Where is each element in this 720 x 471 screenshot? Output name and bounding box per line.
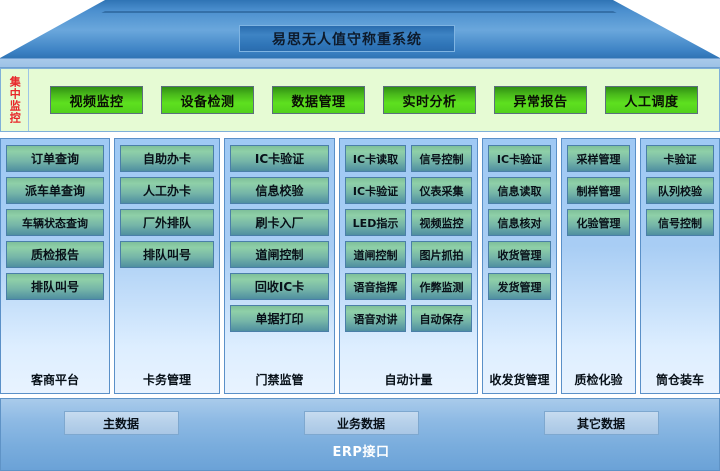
module-item[interactable]: 语音对讲 [345,305,406,332]
module-item[interactable]: 自助办卡 [120,145,214,172]
module-item[interactable]: 道闸控制 [230,241,329,268]
module-column-customer-platform: 订单查询 派车单查询 车辆状态查询 质检报告 排队叫号 客商平台 [0,138,110,394]
module-item[interactable]: 排队叫号 [6,273,104,300]
module-column-quality-inspection: 采样管理 制样管理 化验管理 质检化验 [561,138,636,394]
module-column-card-management: 自助办卡 人工办卡 厂外排队 排队叫号 卡务管理 [114,138,220,394]
module-item[interactable]: 采样管理 [567,145,630,172]
module-column-silo-loading: 卡验证 队列校验 信号控制 筒仓装车 [640,138,720,394]
module-columns: 订单查询 派车单查询 车辆状态查询 质检报告 排队叫号 客商平台 自助办卡 人工… [0,138,720,394]
erp-button-label: 主数据 [103,415,139,432]
module-item[interactable]: 制样管理 [567,177,630,204]
module-item-list: 卡验证 队列校验 信号控制 [646,145,714,365]
module-item[interactable]: 信息核对 [488,209,551,236]
central-monitoring-side-label: 集中监控 [1,69,29,131]
module-column-footer: 质检化验 [567,365,630,393]
module-item[interactable]: 订单查询 [6,145,104,172]
system-title-plate: 易思无人值守称重系统 [239,25,455,52]
module-column-footer: 自动计量 [345,365,472,393]
module-column-footer: 收发货管理 [488,365,551,393]
system-architecture-diagram: 易思无人值守称重系统 集中监控 视频监控 设备检测 数据管理 实时分析 异常报告 [0,0,720,471]
spacer [567,241,630,365]
module-item-list: 自助办卡 人工办卡 厂外排队 排队叫号 [120,145,214,365]
module-item[interactable]: 队列校验 [646,177,714,204]
monitor-button-device-detection[interactable]: 设备检测 [161,86,254,114]
module-item[interactable]: 质检报告 [6,241,104,268]
module-item[interactable]: 排队叫号 [120,241,214,268]
erp-button-business-data[interactable]: 业务数据 [304,411,419,435]
erp-slot: 主数据 [1,411,241,435]
erp-slot: 业务数据 [241,411,481,435]
module-column-footer: 筒仓装车 [646,365,714,393]
monitor-button-label: 实时分析 [402,91,456,110]
module-item[interactable]: 收货管理 [488,241,551,268]
central-monitoring-text: 集中监控 [9,76,21,124]
module-item[interactable]: 语音指挥 [345,273,406,300]
module-item[interactable]: 仪表采集 [411,177,472,204]
module-subcolumn-right: 信号控制 仪表采集 视频监控 图片抓拍 作弊监测 自动保存 [411,145,472,365]
module-item[interactable]: 信息校验 [230,177,329,204]
module-item[interactable]: 自动保存 [411,305,472,332]
monitor-button-exception-report[interactable]: 异常报告 [494,86,587,114]
module-item[interactable]: 作弊监测 [411,273,472,300]
module-item-list: IC卡读取 IC卡验证 LED指示 道闸控制 语音指挥 语音对讲 信号控制 仪表… [345,145,472,365]
module-item[interactable]: IC卡验证 [230,145,329,172]
module-item[interactable]: 信号控制 [411,145,472,172]
module-item-list: IC卡验证 信息读取 信息核对 收货管理 发货管理 [488,145,551,365]
module-column-access-control: IC卡验证 信息校验 刷卡入厂 道闸控制 回收IC卡 单据打印 门禁监管 [224,138,335,394]
monitor-button-label: 数据管理 [291,91,345,110]
spacer [488,305,551,365]
monitor-button-data-management[interactable]: 数据管理 [272,86,365,114]
module-item[interactable]: LED指示 [345,209,406,236]
module-item-list: IC卡验证 信息校验 刷卡入厂 道闸控制 回收IC卡 单据打印 [230,145,329,365]
monitor-button-manual-dispatch[interactable]: 人工调度 [605,86,698,114]
erp-button-other-data[interactable]: 其它数据 [544,411,659,435]
module-subcolumn-left: IC卡读取 IC卡验证 LED指示 道闸控制 语音指挥 语音对讲 [345,145,406,365]
module-item-list: 采样管理 制样管理 化验管理 [567,145,630,365]
module-item[interactable]: 厂外排队 [120,209,214,236]
module-item[interactable]: 派车单查询 [6,177,104,204]
monitoring-button-row: 视频监控 设备检测 数据管理 实时分析 异常报告 人工调度 [29,86,719,114]
erp-slot: 其它数据 [481,411,720,435]
module-column-footer: 卡务管理 [120,365,214,393]
erp-button-label: 其它数据 [577,415,625,432]
module-item[interactable]: 车辆状态查询 [6,209,104,236]
spacer [646,241,714,365]
central-monitoring-bar: 集中监控 视频监控 设备检测 数据管理 实时分析 异常报告 人工调度 [0,68,720,132]
monitor-button-label: 设备检测 [180,91,234,110]
module-item[interactable]: 发货管理 [488,273,551,300]
module-item[interactable]: 卡验证 [646,145,714,172]
module-item[interactable]: IC卡验证 [488,145,551,172]
erp-button-label: 业务数据 [337,415,385,432]
module-item[interactable]: 视频监控 [411,209,472,236]
module-item[interactable]: 单据打印 [230,305,329,332]
module-item[interactable]: 信号控制 [646,209,714,236]
monitor-button-video-monitoring[interactable]: 视频监控 [50,86,143,114]
module-item[interactable]: 信息读取 [488,177,551,204]
erp-button-row: 主数据 业务数据 其它数据 [1,411,720,435]
module-column-shipping-receiving: IC卡验证 信息读取 信息核对 收货管理 发货管理 收发货管理 [482,138,557,394]
monitor-button-label: 视频监控 [69,91,123,110]
page-title: 易思无人值守称重系统 [272,29,422,49]
erp-interface-label: ERP接口 [1,441,720,460]
module-item[interactable]: 刷卡入厂 [230,209,329,236]
module-column-footer: 门禁监管 [230,365,329,393]
monitor-button-realtime-analysis[interactable]: 实时分析 [383,86,476,114]
module-item[interactable]: 人工办卡 [120,177,214,204]
monitor-button-label: 人工调度 [624,91,678,110]
module-column-footer: 客商平台 [6,365,104,393]
module-column-automatic-weighing: IC卡读取 IC卡验证 LED指示 道闸控制 语音指挥 语音对讲 信号控制 仪表… [339,138,478,394]
monitor-button-label: 异常报告 [513,91,567,110]
erp-interface-bar: 主数据 业务数据 其它数据 ERP接口 [0,398,720,471]
module-item[interactable]: 化验管理 [567,209,630,236]
roof-seam [0,11,720,13]
module-item[interactable]: 道闸控制 [345,241,406,268]
module-item-list: 订单查询 派车单查询 车辆状态查询 质检报告 排队叫号 [6,145,104,365]
module-item[interactable]: 回收IC卡 [230,273,329,300]
module-item[interactable]: IC卡验证 [345,177,406,204]
divider-band [0,58,720,68]
module-item[interactable]: IC卡读取 [345,145,406,172]
erp-button-master-data[interactable]: 主数据 [64,411,179,435]
module-item[interactable]: 图片抓拍 [411,241,472,268]
